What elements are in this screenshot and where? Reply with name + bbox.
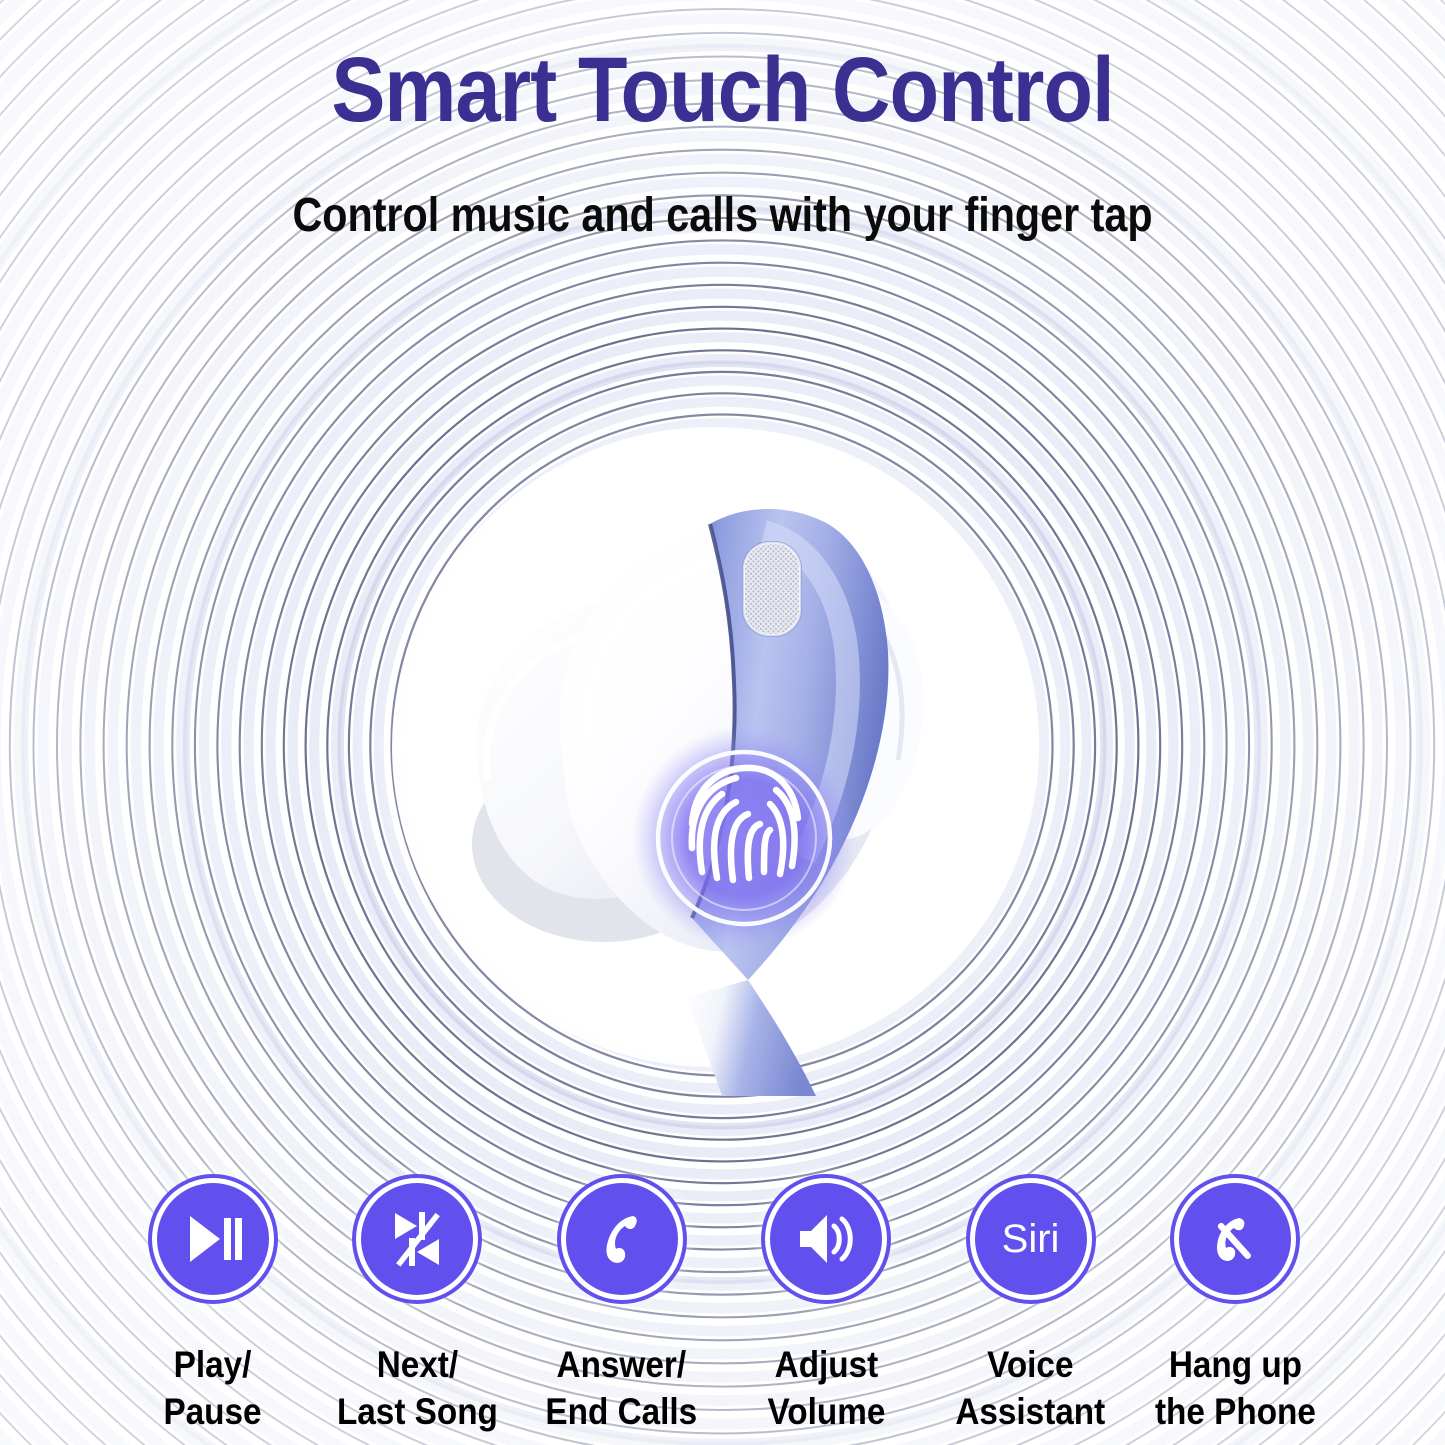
- hang-up-icon: [1205, 1209, 1265, 1269]
- label-line-2: the Phone: [1154, 1388, 1315, 1435]
- feature-next-last-song[interactable]: Next/ Last Song: [322, 1183, 512, 1436]
- feature-label: Next/ Last Song: [337, 1341, 498, 1436]
- label-line-1: Voice: [956, 1341, 1106, 1388]
- page-title: Smart Touch Control: [87, 44, 1359, 136]
- feature-adjust-volume[interactable]: Adjust Volume: [731, 1183, 921, 1436]
- feature-label: Adjust Volume: [767, 1341, 885, 1436]
- next-last-song-icon: [385, 1207, 449, 1271]
- answer-call-icon: [592, 1209, 652, 1269]
- label-line-1: Hang up: [1154, 1341, 1315, 1388]
- label-line-2: End Calls: [546, 1388, 698, 1435]
- feature-label: Answer/ End Calls: [546, 1341, 698, 1436]
- siri-icon: Siri: [1002, 1219, 1060, 1259]
- touch-control-feature-list: Play/ Pause Next/ Last Song: [118, 1183, 1330, 1445]
- feature-voice-assistant[interactable]: Siri Voice Assistant: [936, 1183, 1126, 1436]
- label-line-2: Volume: [767, 1388, 885, 1435]
- answer-call-badge[interactable]: [566, 1183, 678, 1295]
- hang-up-badge[interactable]: [1179, 1183, 1291, 1295]
- volume-speaker-icon: [794, 1210, 858, 1268]
- play-pause-icon: [182, 1208, 244, 1270]
- feature-hang-up[interactable]: Hang up the Phone: [1140, 1183, 1330, 1436]
- feature-answer-end-calls[interactable]: Answer/ End Calls: [527, 1183, 717, 1436]
- label-line-1: Play/: [164, 1341, 262, 1388]
- smart-touch-control-poster: Smart Touch Control Control music and ca…: [0, 0, 1445, 1445]
- next-last-song-badge[interactable]: [361, 1183, 473, 1295]
- label-line-2: Pause: [164, 1388, 262, 1435]
- volume-badge[interactable]: [770, 1183, 882, 1295]
- feature-label: Play/ Pause: [164, 1341, 262, 1436]
- feature-play-pause[interactable]: Play/ Pause: [118, 1183, 308, 1436]
- label-line-2: Last Song: [337, 1388, 498, 1435]
- play-pause-badge[interactable]: [157, 1183, 269, 1295]
- label-line-1: Next/: [337, 1341, 498, 1388]
- feature-label: Voice Assistant: [956, 1341, 1106, 1436]
- siri-badge[interactable]: Siri: [975, 1183, 1087, 1295]
- label-line-1: Answer/: [546, 1341, 698, 1388]
- label-line-1: Adjust: [767, 1341, 885, 1388]
- label-line-2: Assistant: [956, 1388, 1106, 1435]
- feature-label: Hang up the Phone: [1154, 1341, 1315, 1436]
- page-subtitle: Control music and calls with your finger…: [101, 192, 1344, 240]
